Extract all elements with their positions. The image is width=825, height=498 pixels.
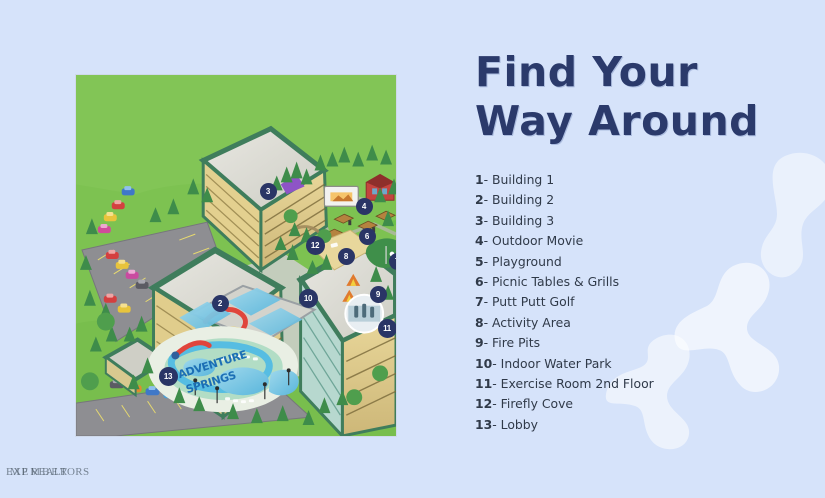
legend-item-number: 6	[475, 274, 484, 289]
legend-item-label: - Building 2	[484, 192, 555, 207]
map-marker-3[interactable]: 3	[260, 183, 277, 200]
legend-item-number: 5	[475, 254, 484, 269]
legend-item-label: - Playground	[484, 254, 562, 269]
map-marker-10[interactable]: 10	[299, 289, 318, 308]
map-marker-13[interactable]: 13	[159, 367, 178, 386]
legend-item-8: 8- Activity Area	[475, 313, 805, 333]
legend-item-10: 10- Indoor Water Park	[475, 354, 805, 374]
content-panel: Find Your Way Around 1- Building 12- Bui…	[475, 48, 805, 435]
legend-item-label: - Building 1	[484, 172, 555, 187]
legend-item-number: 1	[475, 172, 484, 187]
legend-item-4: 4- Outdoor Movie	[475, 231, 805, 251]
legend-item-11: 11- Exercise Room 2nd Floor	[475, 374, 805, 394]
legend-item-label: - Fire Pits	[484, 335, 540, 350]
legend-item-label: - Activity Area	[484, 315, 571, 330]
legend-item-number: 12	[475, 396, 492, 411]
legend-item-number: 9	[475, 335, 484, 350]
map-marker-8[interactable]: 8	[338, 248, 355, 265]
legend-item-13: 13- Lobby	[475, 415, 805, 435]
property-map-image: ADVENTURE SPRINGS	[75, 74, 397, 437]
legend-item-9: 9- Fire Pits	[475, 333, 805, 353]
legend-item-label: - Outdoor Movie	[484, 233, 584, 248]
map-marker-4[interactable]: 4	[356, 198, 373, 215]
legend-item-2: 2- Building 2	[475, 190, 805, 210]
legend-item-number: 8	[475, 315, 484, 330]
legend-item-number: 2	[475, 192, 484, 207]
page-title: Find Your Way Around	[475, 48, 775, 146]
legend-item-number: 4	[475, 233, 484, 248]
map-marker-2[interactable]: 2	[212, 295, 229, 312]
map-marker-6[interactable]: 6	[359, 228, 376, 245]
legend-item-number: 11	[475, 376, 492, 391]
legend-item-1: 1- Building 1	[475, 170, 805, 190]
footer-credit: EXP REALTORS MEMBER	[6, 466, 176, 484]
map-marker-9[interactable]: 9	[370, 286, 387, 303]
legend-item-label: - Building 3	[484, 213, 555, 228]
map-marker-11[interactable]: 11	[378, 319, 397, 338]
map-legend-list: 1- Building 12- Building 23- Building 34…	[475, 170, 805, 435]
legend-item-label: - Putt Putt Golf	[484, 294, 575, 309]
legend-item-number: 13	[475, 417, 492, 432]
slide-canvas: ADVENTURE SPRINGS	[0, 0, 825, 498]
legend-item-12: 12- Firefly Cove	[475, 394, 805, 414]
legend-item-label: - Indoor Water Park	[492, 356, 611, 371]
legend-item-label: - Firefly Cove	[492, 396, 573, 411]
legend-item-5: 5- Playground	[475, 252, 805, 272]
legend-item-6: 6- Picnic Tables & Grills	[475, 272, 805, 292]
legend-item-number: 3	[475, 213, 484, 228]
map-marker-12[interactable]: 12	[306, 236, 325, 255]
legend-item-7: 7- Putt Putt Golf	[475, 292, 805, 312]
legend-item-label: - Exercise Room 2nd Floor	[492, 376, 654, 391]
legend-item-label: - Picnic Tables & Grills	[484, 274, 619, 289]
legend-item-3: 3- Building 3	[475, 211, 805, 231]
legend-item-number: 7	[475, 294, 484, 309]
legend-item-label: - Lobby	[492, 417, 538, 432]
footer-credit-back: MEMBER	[10, 466, 69, 478]
legend-item-number: 10	[475, 356, 492, 371]
